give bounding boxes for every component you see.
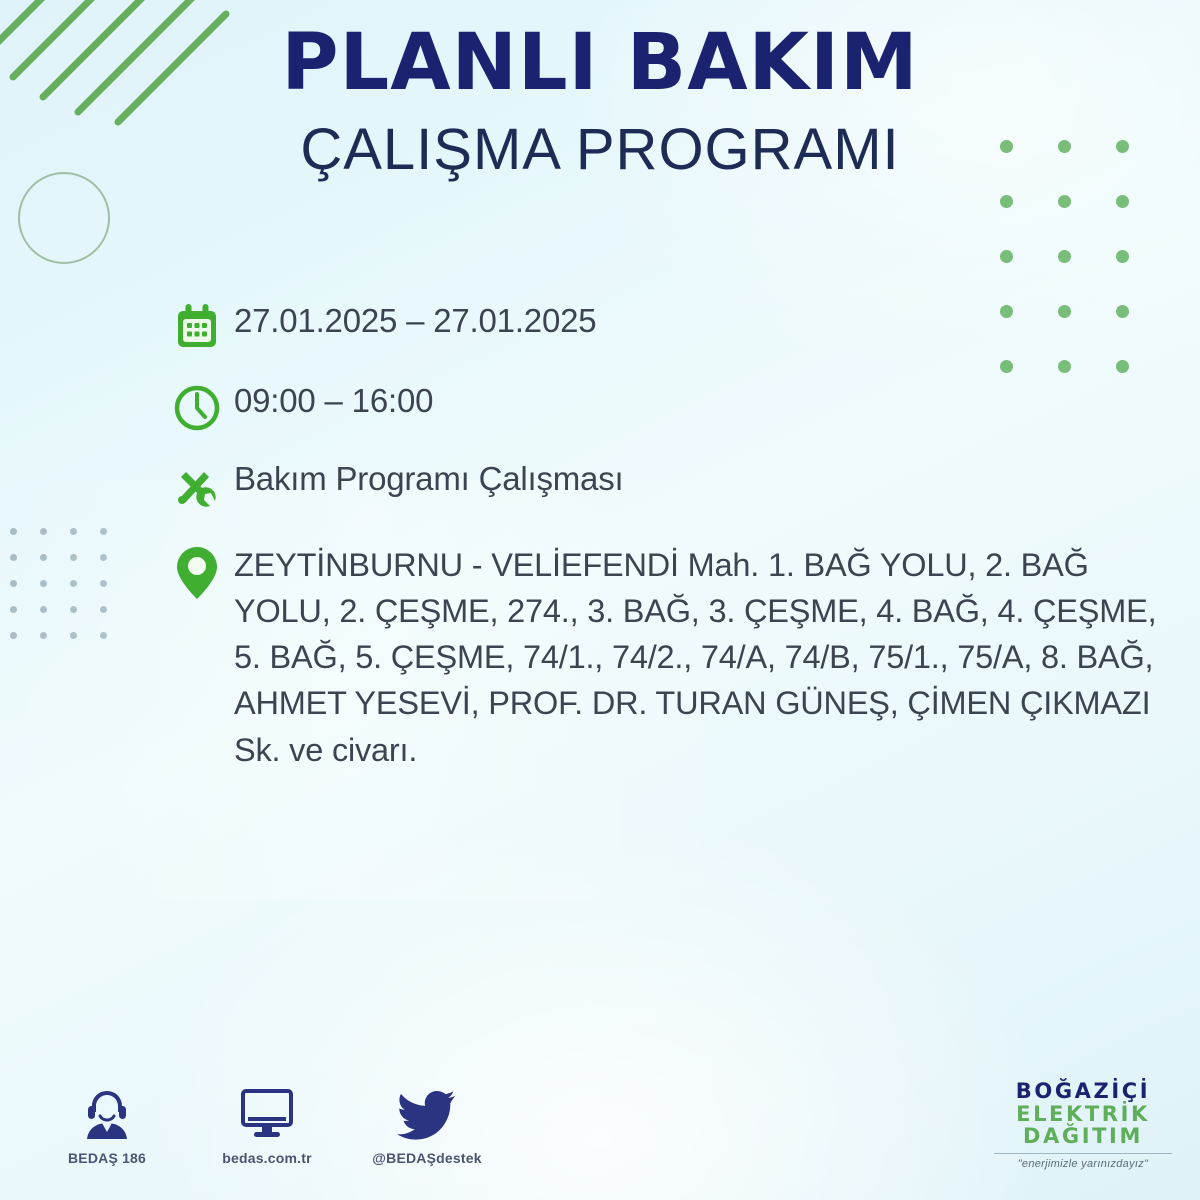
contact-phone-label: BEDAŞ 186	[52, 1150, 162, 1166]
call-center-agent-icon	[52, 1077, 162, 1141]
maintenance-details: 27.01.2025 – 27.01.2025 09:00 – 16:00 Ba…	[160, 300, 1190, 795]
page-title: PLANLI BAKIM	[0, 0, 1200, 102]
date-range-text: 27.01.2025 – 27.01.2025	[234, 300, 596, 342]
calendar-icon	[160, 300, 234, 354]
brand-line-dagitim: DAĞITIM	[988, 1125, 1178, 1148]
location-pin-icon	[160, 542, 234, 602]
brand-divider	[994, 1153, 1172, 1154]
twitter-bird-icon	[372, 1077, 482, 1141]
monitor-icon	[212, 1077, 322, 1141]
detail-row-location: ZEYTİNBURNU - VELİEFENDİ Mah. 1. BAĞ YOL…	[160, 542, 1190, 773]
contact-phone[interactable]: BEDAŞ 186	[52, 1077, 162, 1166]
location-text: ZEYTİNBURNU - VELİEFENDİ Mah. 1. BAĞ YOL…	[234, 542, 1179, 773]
clock-icon	[160, 380, 234, 434]
brand-line-elektrik: ELEKTRİK	[988, 1103, 1178, 1126]
dot-grid-decoration-left	[10, 528, 130, 658]
poster-header: PLANLI BAKIM ÇALIŞMA PROGRAMI	[0, 0, 1200, 182]
circle-outline-decoration	[18, 172, 110, 264]
detail-row-date: 27.01.2025 – 27.01.2025	[160, 300, 1190, 354]
detail-row-time: 09:00 – 16:00	[160, 380, 1190, 434]
contact-twitter-label: @BEDAŞdestek	[372, 1150, 482, 1166]
time-range-text: 09:00 – 16:00	[234, 380, 433, 422]
contact-channels: BEDAŞ 186 bedas.com.tr @BEDAŞdestek	[52, 1077, 482, 1166]
contact-website-label: bedas.com.tr	[212, 1150, 322, 1166]
detail-row-work-type: Bakım Programı Çalışması	[160, 458, 1190, 512]
bedas-logo: BOĞAZİÇİ ELEKTRİK DAĞITIM "enerjimizle y…	[988, 1080, 1178, 1170]
brand-tagline: "enerjimizle yarınızdayız"	[988, 1158, 1178, 1170]
contact-website[interactable]: bedas.com.tr	[212, 1077, 322, 1166]
contact-twitter[interactable]: @BEDAŞdestek	[372, 1077, 482, 1166]
poster-footer: BEDAŞ 186 bedas.com.tr @BEDAŞdestek	[0, 1030, 1200, 1200]
tools-icon	[160, 458, 234, 512]
work-type-text: Bakım Programı Çalışması	[234, 458, 623, 500]
brand-line-bogazici: BOĞAZİÇİ	[988, 1080, 1178, 1103]
page-subtitle: ÇALIŞMA PROGRAMI	[0, 102, 1200, 182]
